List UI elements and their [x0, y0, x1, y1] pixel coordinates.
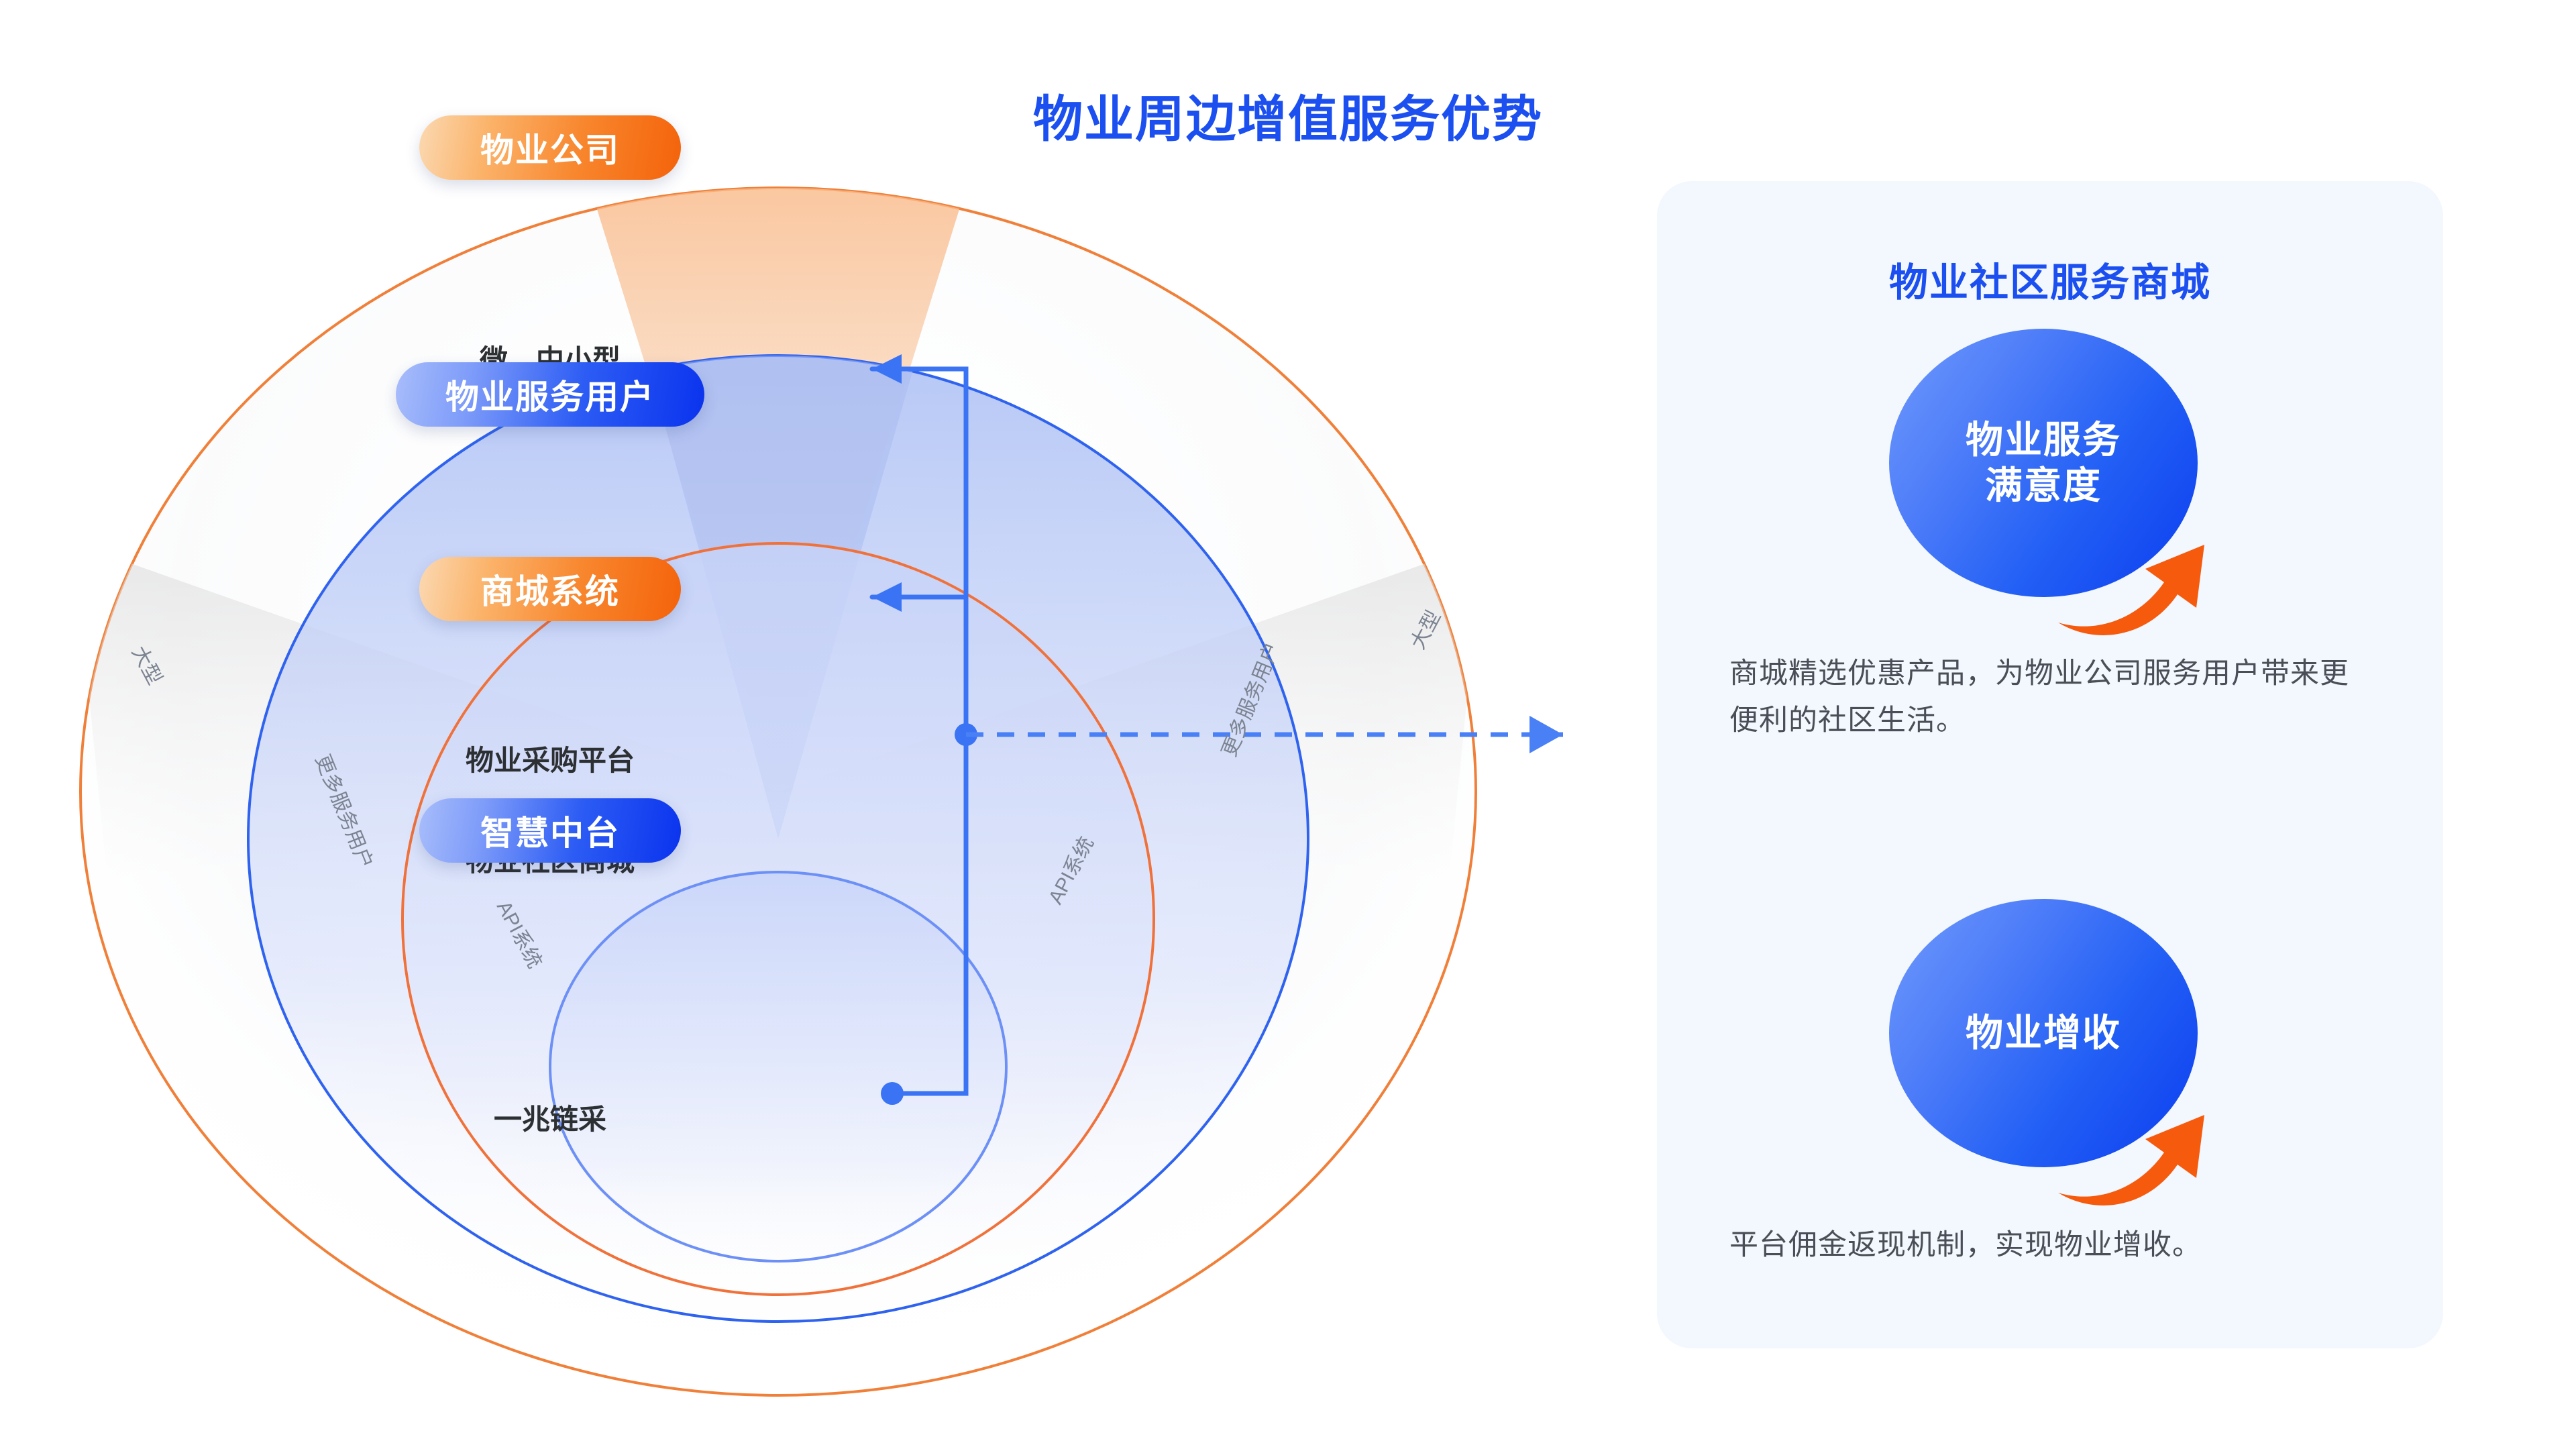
- caption-satisfaction: 商城精选优惠产品，为物业公司服务用户带来更便利的社区生活。: [1729, 651, 2373, 744]
- bubble-line-2: 满意度: [1985, 464, 2102, 506]
- pill-property-service-users[interactable]: 物业服务用户: [396, 362, 704, 427]
- caption-revenue: 平台佣金返现机制，实现物业增收。: [1729, 1222, 2373, 1269]
- connector-dot-lower: [881, 1082, 904, 1105]
- panel-title: 物业社区服务商城: [1657, 251, 2443, 307]
- page-title: 物业周边增值服务优势: [0, 79, 2576, 151]
- bubble-line-1: 物业增收: [1966, 1010, 2121, 1056]
- pill-label: 商城系统: [480, 565, 620, 613]
- pill-smart-midplatform[interactable]: 智慧中台: [419, 798, 681, 863]
- bubble-line-1: 物业服务: [1966, 419, 2121, 461]
- pill-mall-system[interactable]: 商城系统: [419, 557, 681, 621]
- bubble-revenue-wrap[interactable]: 物业增收: [1889, 899, 2211, 1187]
- pill-label: 物业公司: [480, 123, 620, 172]
- growth-arrow-icon: [2051, 503, 2219, 637]
- pill-label: 智慧中台: [480, 806, 620, 855]
- venn-diagram: 大型 大型 更多服务用户 更多服务用户 API系统 API系统 物业公司 物业服…: [0, 168, 1610, 1409]
- node-label-procurement-platform: 物业采购平台: [419, 738, 681, 779]
- node-label-yizhao-lincai: 一兆链采: [419, 1097, 681, 1138]
- bubble-satisfaction-wrap[interactable]: 物业服务 满意度: [1889, 329, 2211, 617]
- venn-svg: 大型 大型 更多服务用户 更多服务用户 API系统 API系统: [0, 168, 1610, 1409]
- ring-inner: [550, 872, 1006, 1261]
- value-panel: 物业社区服务商城 物业服务 满意度 商城精选优惠产品，为物业公司服务用户带来更便…: [1657, 181, 2443, 1348]
- pill-label: 物业服务用户: [445, 370, 655, 419]
- growth-arrow-icon: [2051, 1073, 2219, 1207]
- pill-property-company[interactable]: 物业公司: [419, 115, 681, 180]
